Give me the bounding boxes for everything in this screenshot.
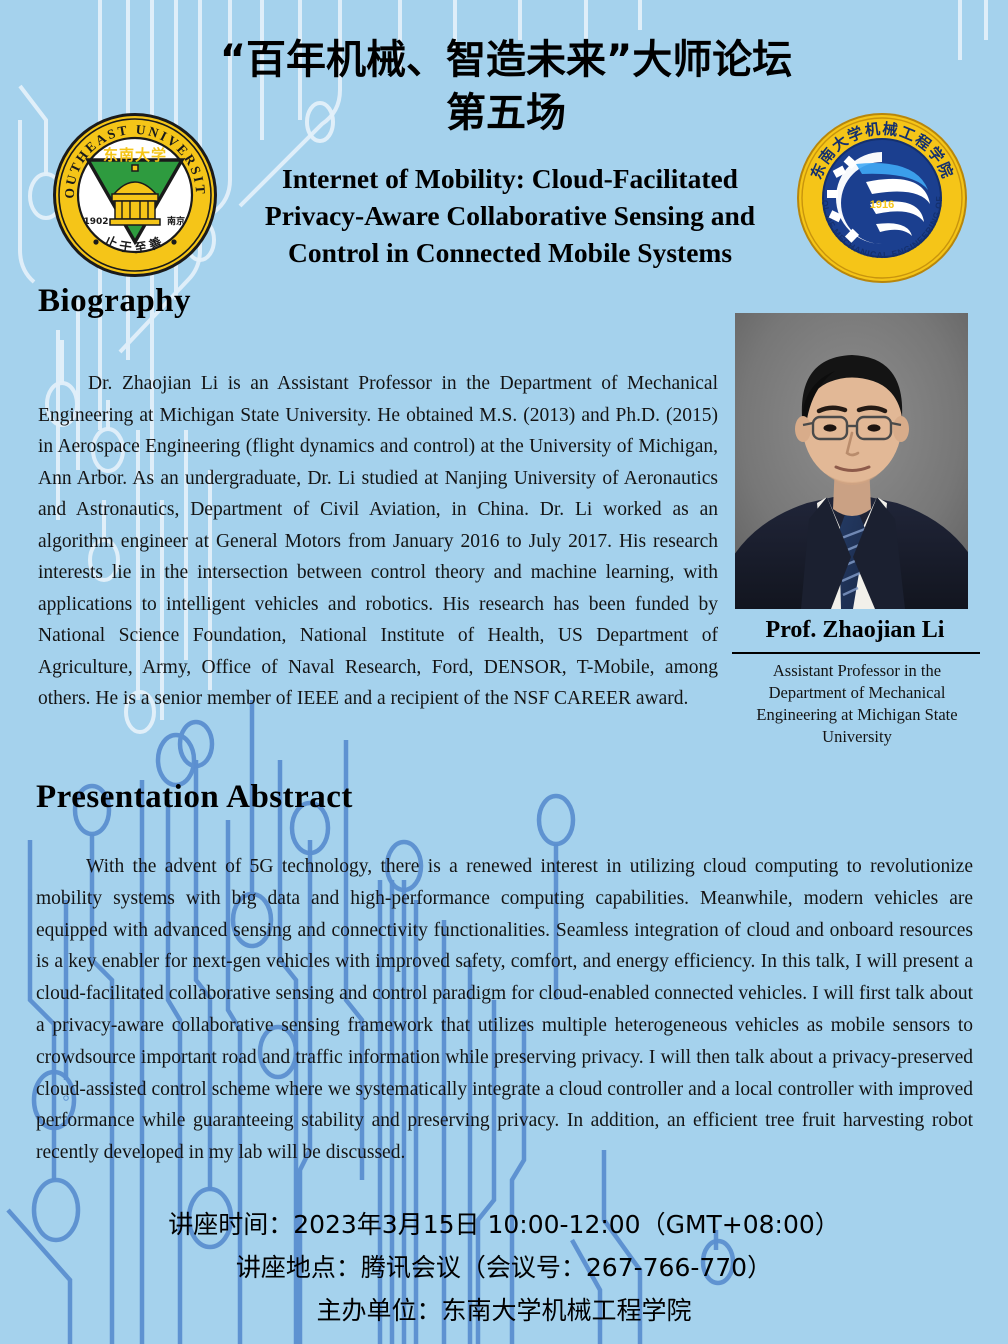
seminar-poster: SOUTHEAST UNIVERSITY 止于至善 东南大学 <box>0 0 1008 1344</box>
forum-title-chinese: “百年机械、智造未来”大师论坛 第五场 <box>170 34 842 140</box>
talk-title-line3: Control in Connected Mobile Systems <box>288 237 732 268</box>
talk-title-line1: Internet of Mobility: Cloud-Facilitated <box>282 163 738 194</box>
speaker-affiliation: Assistant Professor in the Department of… <box>740 660 974 748</box>
speaker-name: Prof. Zhaojian Li <box>730 615 980 645</box>
abstract-heading: Presentation Abstract <box>36 779 353 816</box>
event-time-line: 讲座时间：2023年3月15日 10:00-12:00（GMT+08:00） <box>0 1203 1008 1246</box>
abstract-body: With the advent of 5G technology, there … <box>36 851 973 1169</box>
svg-text:南京: 南京 <box>167 215 185 227</box>
svg-text:1902: 1902 <box>83 217 108 227</box>
forum-title-chinese-line1: “百年机械、智造未来”大师论坛 <box>220 37 793 83</box>
talk-title-line2: Privacy-Aware Collaborative Sensing and <box>265 200 755 231</box>
event-venue-line: 讲座地点：腾讯会议（会议号：267-766-770） <box>0 1246 1008 1289</box>
biography-body: Dr. Zhaojian Li is an Assistant Professo… <box>38 368 718 715</box>
svg-text:东南大学: 东南大学 <box>103 146 167 164</box>
event-details-footer: 讲座时间：2023年3月15日 10:00-12:00（GMT+08:00） 讲… <box>0 1203 1008 1332</box>
svg-text:1916: 1916 <box>870 199 894 211</box>
name-divider-rule <box>732 652 980 654</box>
speaker-photo <box>735 313 968 609</box>
talk-title-english: Internet of Mobility: Cloud-Facilitated … <box>210 160 810 271</box>
event-host-line: 主办单位：东南大学机械工程学院 <box>0 1289 1008 1332</box>
biography-heading: Biography <box>38 283 191 320</box>
forum-title-chinese-line2: 第五场 <box>170 87 842 140</box>
